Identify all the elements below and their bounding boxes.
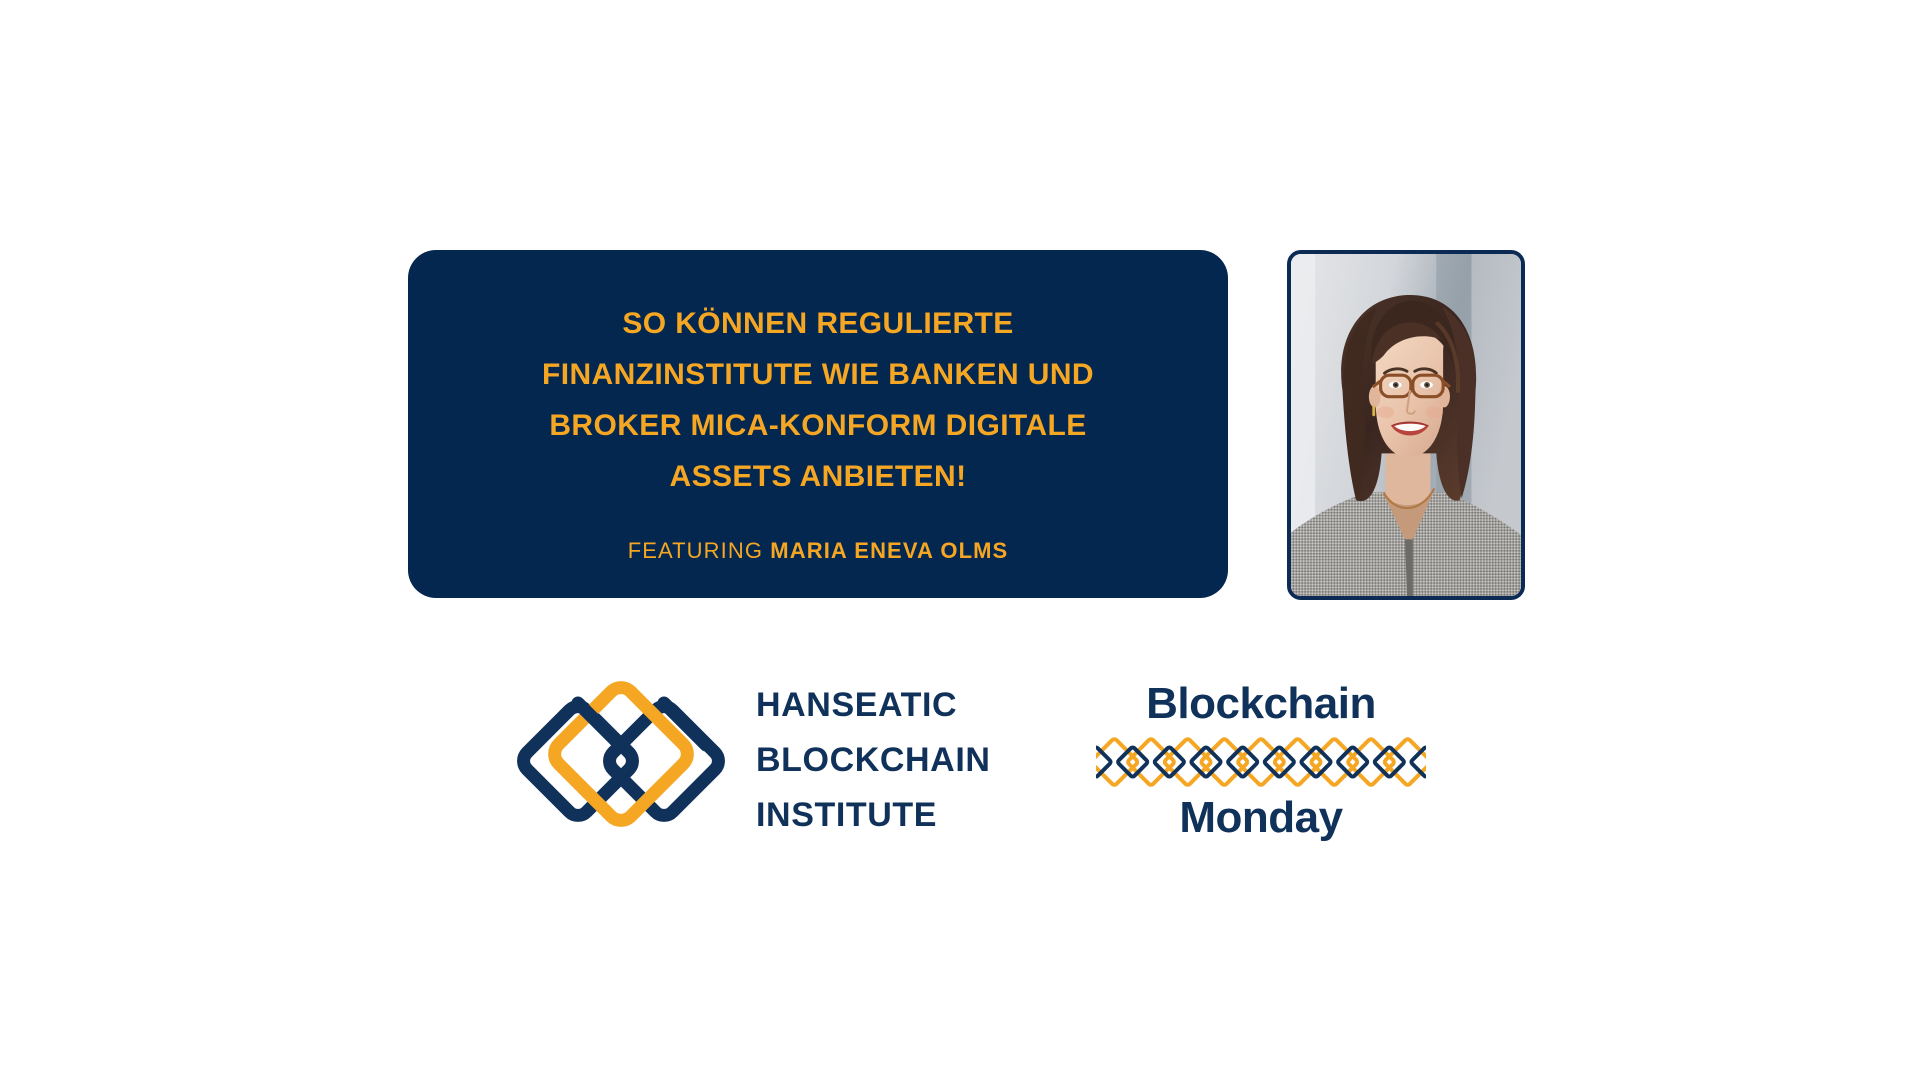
hanseatic-blockchain-institute-logo: HANSEATIC BLOCKCHAIN INSTITUTE xyxy=(512,678,991,843)
blockchain-monday-logo: Blockchain Monday xyxy=(1096,678,1426,844)
banner-canvas: SO KÖNNEN REGULIERTE FINANZINSTITUTE WIE… xyxy=(0,0,1920,1080)
blockchain-monday-line-1: Blockchain xyxy=(1096,678,1426,730)
featuring-line: FEATURING MARIA ENEVA OLMS xyxy=(628,538,1009,564)
speaker-portrait-image xyxy=(1291,254,1521,596)
headline-line-3: BROKER MICA-KONFORM DIGITALE xyxy=(442,400,1194,451)
hbi-wordmark: HANSEATIC BLOCKCHAIN INSTITUTE xyxy=(756,678,991,843)
hbi-wordmark-line-2: BLOCKCHAIN xyxy=(756,733,991,788)
hbi-wordmark-line-3: INSTITUTE xyxy=(756,788,991,843)
featuring-speaker-name: MARIA ENEVA OLMS xyxy=(770,538,1008,563)
featuring-label: FEATURING xyxy=(628,538,763,563)
headline-line-2: FINANZINSTITUTE WIE BANKEN UND xyxy=(442,349,1194,400)
headline-line-1: SO KÖNNEN REGULIERTE xyxy=(442,298,1194,349)
headline-text: SO KÖNNEN REGULIERTE FINANZINSTITUTE WIE… xyxy=(442,298,1194,502)
alternating-diamond-chain-icon xyxy=(1096,734,1426,790)
headline-card: SO KÖNNEN REGULIERTE FINANZINSTITUTE WIE… xyxy=(408,250,1228,598)
logo-row: HANSEATIC BLOCKCHAIN INSTITUTE Blockchai… xyxy=(0,668,1920,868)
speaker-portrait xyxy=(1287,250,1525,600)
three-interlocking-diamonds-icon xyxy=(512,681,730,841)
headline-line-4: ASSETS ANBIETEN! xyxy=(442,451,1194,502)
blockchain-monday-line-2: Monday xyxy=(1096,792,1426,844)
hbi-wordmark-line-1: HANSEATIC xyxy=(756,678,991,733)
